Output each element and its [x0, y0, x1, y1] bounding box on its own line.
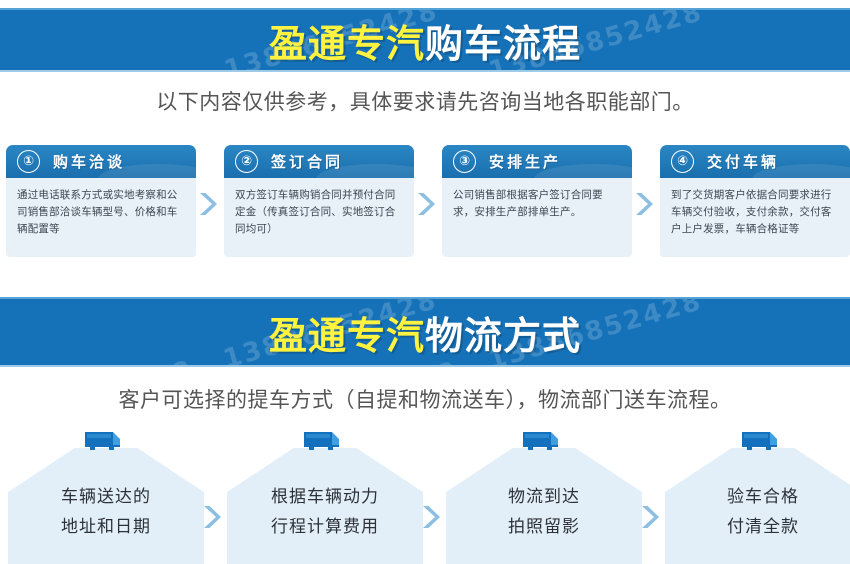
step-number-1: ①: [17, 150, 40, 173]
step-body-3: 公司销售部根据客户签订合同要求，安排生产部排单生产。: [442, 178, 632, 257]
step-body-2: 双方签订车辆购销合同并预付合同定金（传真签订合同、实地签订合同均可）: [224, 178, 414, 257]
banner-brand-purchase: 盈通专汽: [269, 22, 425, 66]
step-header-2: ② 签订合同: [224, 145, 414, 178]
banner-subject-logistics: 物流方式: [425, 314, 581, 358]
logistics-line-1: 物流到达: [446, 482, 642, 512]
banner-title-purchase: 盈通专汽购车流程: [269, 13, 581, 68]
chevron-right-icon: [632, 189, 654, 219]
section-banner-logistics: 13886852428 13886852428 13886852428 1388…: [0, 297, 850, 367]
truck-icon: [739, 430, 787, 454]
purchase-steps-row: ① 购车洽谈 通过电话联系方式或实地考察和公司销售部洽谈车辆型号、价格和车辆配置…: [0, 145, 850, 260]
logistics-line-1: 根据车辆动力: [227, 482, 423, 512]
logistics-card-text-4: 验车合格 付清全款: [665, 482, 850, 542]
logistics-line-2: 拍照留影: [446, 512, 642, 542]
subtitle-purchase: 以下内容仅供参考，具体要求请先咨询当地各职能部门。: [0, 86, 850, 116]
logistics-line-2: 付清全款: [665, 512, 850, 542]
logistics-line-2: 行程计算费用: [227, 512, 423, 542]
logistics-card-text-3: 物流到达 拍照留影: [446, 482, 642, 542]
chevron-right-icon: [196, 189, 218, 219]
step-number-2: ②: [235, 150, 258, 173]
step-title-4: 交付车辆: [707, 151, 779, 172]
logistics-line-1: 车辆送达的: [8, 482, 204, 512]
step-card-2: ② 签订合同 双方签订车辆购销合同并预付合同定金（传真签订合同、实地签订合同均可…: [224, 145, 414, 257]
truck-icon: [520, 430, 568, 454]
step-body-4: 到了交货期客户依据合同要求进行车辆交付验收，支付余款，交付客户上户发票，车辆合格…: [660, 178, 850, 257]
logistics-line-2: 地址和日期: [8, 512, 204, 542]
step-title-3: 安排生产: [489, 151, 561, 172]
step-body-1: 通过电话联系方式或实地考察和公司销售部洽谈车辆型号、价格和车辆配置等: [6, 178, 196, 257]
step-card-4: ④ 交付车辆 到了交货期客户依据合同要求进行车辆交付验收，支付余款，交付客户上户…: [660, 145, 850, 257]
step-title-1: 购车洽谈: [53, 151, 125, 172]
infographic-page: 13886852428 13886852428 13886852428 1388…: [0, 0, 850, 564]
logistics-card-2: 根据车辆动力 行程计算费用: [227, 430, 423, 564]
step-card-3: ③ 安排生产 公司销售部根据客户签订合同要求，安排生产部排单生产。: [442, 145, 632, 257]
logistics-cards-row: 车辆送达的 地址和日期 根据车辆动力 行程计算费用: [0, 430, 850, 564]
section-banner-purchase: 13886852428 13886852428 13886852428 1388…: [0, 8, 850, 72]
logistics-line-1: 验车合格: [665, 482, 850, 512]
step-header-3: ③ 安排生产: [442, 145, 632, 178]
logistics-card-text-2: 根据车辆动力 行程计算费用: [227, 482, 423, 542]
logistics-card-3: 物流到达 拍照留影: [446, 430, 642, 564]
logistics-card-text-1: 车辆送达的 地址和日期: [8, 482, 204, 542]
logistics-card-4: 验车合格 付清全款: [665, 430, 850, 564]
step-header-1: ① 购车洽谈: [6, 145, 196, 178]
chevron-right-icon: [414, 189, 436, 219]
step-number-3: ③: [453, 150, 476, 173]
step-header-4: ④ 交付车辆: [660, 145, 850, 178]
subtitle-logistics: 客户可选择的提车方式（自提和物流送车），物流部门送车流程。: [0, 384, 850, 414]
banner-brand-logistics: 盈通专汽: [269, 314, 425, 358]
truck-icon: [301, 430, 349, 454]
truck-icon: [82, 430, 130, 454]
step-title-2: 签订合同: [271, 151, 343, 172]
banner-subject-purchase: 购车流程: [425, 22, 581, 66]
step-card-1: ① 购车洽谈 通过电话联系方式或实地考察和公司销售部洽谈车辆型号、价格和车辆配置…: [6, 145, 196, 257]
step-number-4: ④: [671, 150, 694, 173]
banner-title-logistics: 盈通专汽物流方式: [269, 305, 581, 360]
logistics-card-1: 车辆送达的 地址和日期: [8, 430, 204, 564]
